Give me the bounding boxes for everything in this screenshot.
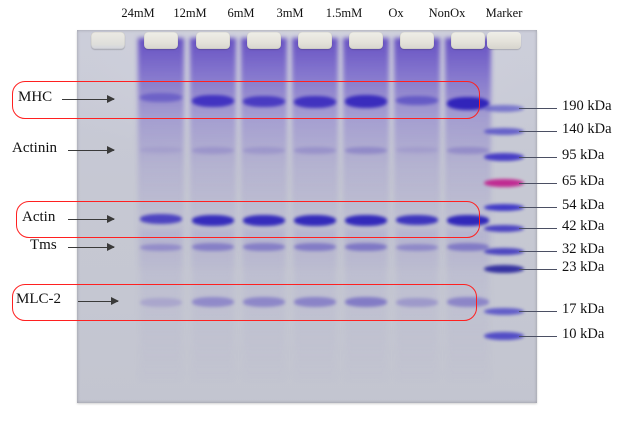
mw-label-42kda: 42 kDa bbox=[562, 218, 604, 235]
loading-well bbox=[144, 32, 178, 49]
band-actinin bbox=[294, 147, 336, 154]
loading-well bbox=[451, 32, 485, 49]
band-actin bbox=[243, 215, 285, 226]
mw-tick-65kda bbox=[519, 183, 557, 184]
band-actin bbox=[345, 215, 387, 226]
gel-figure: 24mM12mM6mM3mM1.5mMOxNonOxMarker 190 kDa… bbox=[0, 0, 639, 421]
arrow-head bbox=[111, 297, 119, 305]
marker-band-54kda bbox=[484, 204, 524, 211]
arrow-head bbox=[107, 146, 115, 154]
band-actin bbox=[192, 215, 234, 226]
band-mlc2 bbox=[140, 298, 182, 307]
arrow-head bbox=[107, 215, 115, 223]
mw-label-54kda: 54 kDa bbox=[562, 197, 604, 214]
band-actinin bbox=[345, 147, 387, 154]
band-actinin bbox=[396, 147, 438, 153]
protein-label-tms: Tms bbox=[30, 237, 57, 254]
mw-label-190kda: 190 kDa bbox=[562, 98, 612, 115]
lane-1.5mM bbox=[343, 30, 389, 403]
marker-band-65kda bbox=[484, 179, 524, 187]
band-mhc bbox=[243, 96, 285, 107]
mw-tick-54kda bbox=[519, 207, 557, 208]
loading-well bbox=[91, 32, 125, 49]
lane-3mM bbox=[292, 30, 338, 403]
loading-well bbox=[400, 32, 434, 49]
band-mlc2 bbox=[294, 297, 336, 307]
band-mlc2 bbox=[243, 297, 285, 307]
pointer-arrow-actin bbox=[68, 214, 114, 224]
band-tms bbox=[294, 243, 336, 251]
band-tms bbox=[243, 243, 285, 251]
loading-well bbox=[349, 32, 383, 49]
marker-band-42kda bbox=[484, 225, 524, 232]
mw-tick-42kda bbox=[519, 228, 557, 229]
mw-label-65kda: 65 kDa bbox=[562, 173, 604, 190]
band-tms bbox=[345, 243, 387, 251]
band-mhc bbox=[140, 93, 182, 102]
marker-well bbox=[487, 32, 521, 49]
protein-label-mlc2: MLC-2 bbox=[16, 291, 61, 308]
mw-label-23kda: 23 kDa bbox=[562, 259, 604, 276]
mw-tick-32kda bbox=[519, 251, 557, 252]
mw-label-140kda: 140 kDa bbox=[562, 121, 612, 138]
band-actin bbox=[140, 214, 182, 224]
mw-label-32kda: 32 kDa bbox=[562, 241, 604, 258]
marker-band-32kda bbox=[484, 248, 524, 255]
mw-tick-95kda bbox=[519, 157, 557, 158]
band-tms bbox=[140, 244, 182, 251]
band-mlc2 bbox=[192, 297, 234, 307]
pointer-arrow-mhc bbox=[62, 94, 114, 104]
band-actin bbox=[294, 215, 336, 226]
marker-band-17kda bbox=[484, 308, 524, 315]
column-header-Marker: Marker bbox=[459, 6, 549, 21]
mw-tick-10kda bbox=[519, 336, 557, 337]
pointer-arrow-actinin bbox=[68, 145, 114, 155]
protein-label-actin: Actin bbox=[22, 209, 55, 226]
band-actin bbox=[396, 215, 438, 225]
band-mhc bbox=[396, 96, 438, 105]
protein-label-actinin: Actinin bbox=[12, 140, 57, 157]
loading-well bbox=[298, 32, 332, 49]
lane-24mM bbox=[138, 30, 184, 403]
band-actinin bbox=[192, 147, 234, 154]
arrow-head bbox=[107, 95, 115, 103]
mw-tick-17kda bbox=[519, 311, 557, 312]
band-tms bbox=[396, 244, 438, 251]
pointer-arrow-tms bbox=[68, 242, 114, 252]
marker-band-10kda bbox=[484, 332, 524, 340]
loading-well bbox=[196, 32, 230, 49]
marker-band-190kda bbox=[484, 105, 524, 112]
lane-Ox bbox=[394, 30, 440, 403]
protein-label-mhc: MHC bbox=[18, 89, 52, 106]
lane-6mM bbox=[241, 30, 287, 403]
band-mhc bbox=[294, 96, 336, 108]
marker-ladder-lane bbox=[481, 30, 527, 403]
band-mlc2 bbox=[396, 298, 438, 307]
gel-slab bbox=[77, 30, 537, 403]
mw-tick-190kda bbox=[519, 108, 557, 109]
band-mlc2 bbox=[345, 297, 387, 307]
marker-band-23kda bbox=[484, 265, 524, 273]
band-actinin bbox=[140, 147, 182, 153]
loading-well bbox=[247, 32, 281, 49]
arrow-head bbox=[107, 243, 115, 251]
band-mhc bbox=[345, 95, 387, 108]
mw-tick-140kda bbox=[519, 131, 557, 132]
band-actinin bbox=[243, 147, 285, 154]
pointer-arrow-mlc2 bbox=[78, 296, 118, 306]
marker-band-95kda bbox=[484, 153, 524, 161]
mw-label-95kda: 95 kDa bbox=[562, 147, 604, 164]
band-mhc bbox=[192, 95, 234, 107]
mw-tick-23kda bbox=[519, 269, 557, 270]
mw-label-17kda: 17 kDa bbox=[562, 301, 604, 318]
band-tms bbox=[192, 243, 234, 251]
marker-band-140kda bbox=[484, 128, 524, 135]
lane-12mM bbox=[190, 30, 236, 403]
mw-label-10kda: 10 kDa bbox=[562, 326, 604, 343]
